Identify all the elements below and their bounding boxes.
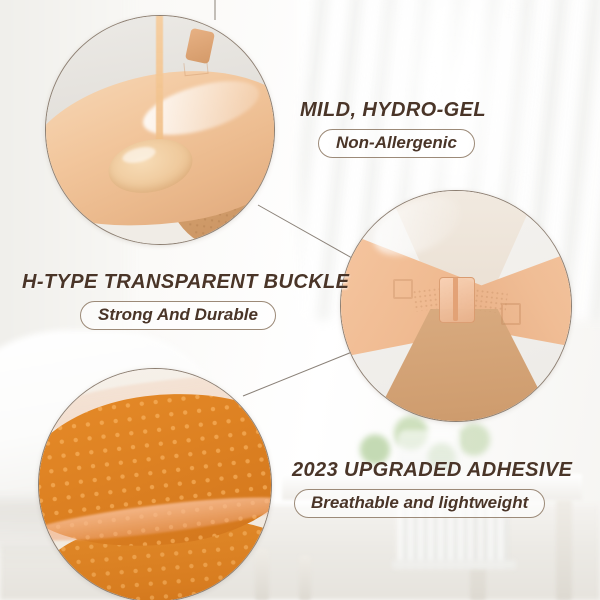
photo-inner [341, 191, 571, 421]
feature-headline: MILD, HYDRO-GEL [300, 99, 486, 122]
background-bottle-tray [392, 560, 516, 569]
buckle-center-bar [453, 277, 458, 321]
photo-inner [39, 369, 271, 600]
feature-photo-adhesive [38, 368, 272, 600]
feature-photo-buckle [340, 190, 572, 422]
pad-emboss-left [393, 279, 413, 299]
feature-headline: 2023 UPGRADED ADHESIVE [292, 459, 572, 482]
feature-badge: Breathable and lightweight [294, 489, 545, 518]
feature-badge: Strong And Durable [80, 301, 276, 330]
infographic-canvas: MILD, HYDRO-GEL Non-Allergenic H-TYPE TR… [0, 0, 600, 600]
feature-text-buckle: H-TYPE TRANSPARENT BUCKLE Strong And Dur… [22, 271, 349, 330]
feature-text-hydrogel: MILD, HYDRO-GEL Non-Allergenic [300, 99, 486, 158]
pad-logo-emboss [183, 61, 208, 76]
feature-photo-hydrogel [45, 15, 275, 245]
feature-headline: H-TYPE TRANSPARENT BUCKLE [22, 271, 349, 294]
feature-badge: Non-Allergenic [318, 129, 475, 158]
photo-inner [46, 16, 274, 244]
background-table-leg [299, 555, 311, 600]
gel-stream [156, 15, 163, 152]
feature-text-adhesive: 2023 UPGRADED ADHESIVE Breathable and li… [292, 459, 572, 518]
